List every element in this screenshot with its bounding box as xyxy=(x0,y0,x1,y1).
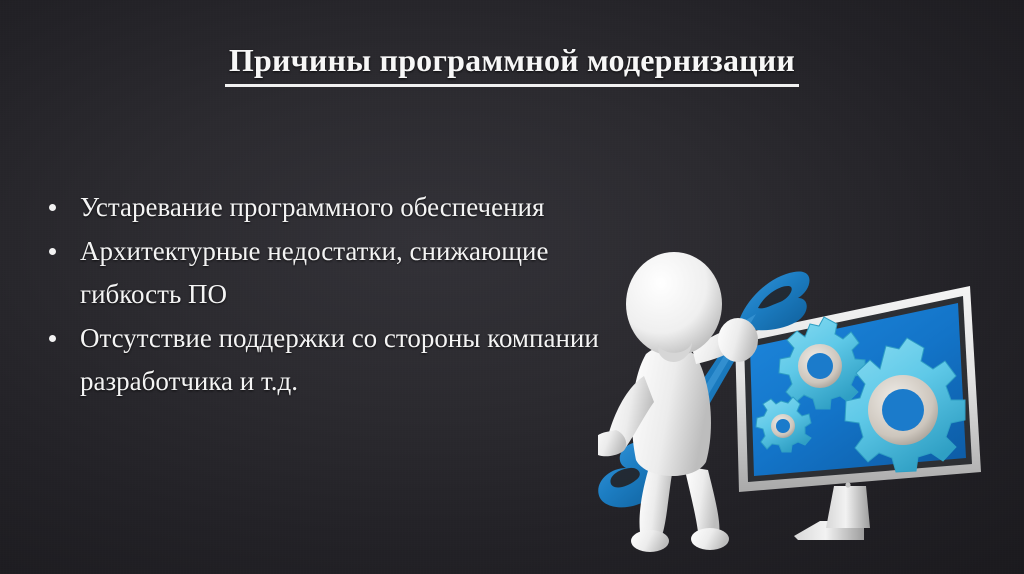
list-item-label: Архитектурные недостатки, снижающие гибк… xyxy=(80,236,548,309)
monitor-power-indicator-icon xyxy=(845,482,850,487)
bullet-dot-icon xyxy=(49,335,56,342)
figure-right-foot xyxy=(691,528,729,550)
bullet-dot-icon xyxy=(49,248,56,255)
page-title: Причины программной модернизации xyxy=(225,44,799,87)
list-item: Отсутствие поддержки со стороны компании… xyxy=(36,317,616,403)
list-item: Архитектурные недостатки, снижающие гибк… xyxy=(36,230,616,316)
figure-head xyxy=(626,252,722,356)
monitor-stand-neck xyxy=(826,486,870,528)
figure-left-foot xyxy=(631,530,669,552)
list-item-label: Устаревание программного обеспечения xyxy=(80,192,544,222)
list-item-label: Отсутствие поддержки со стороны компании… xyxy=(80,323,599,396)
bullet-dot-icon xyxy=(49,204,56,211)
illustration-man-with-wrench-and-monitor xyxy=(598,236,1024,574)
illustration-svg xyxy=(598,236,1024,574)
slide-title-block: Причины программной модернизации xyxy=(0,44,1024,87)
bullet-list: Устаревание программного обеспечения Арх… xyxy=(36,186,616,404)
presentation-slide: Причины программной модернизации Устарев… xyxy=(0,0,1024,574)
figure-right-hand xyxy=(718,318,758,362)
list-item: Устаревание программного обеспечения xyxy=(36,186,616,229)
